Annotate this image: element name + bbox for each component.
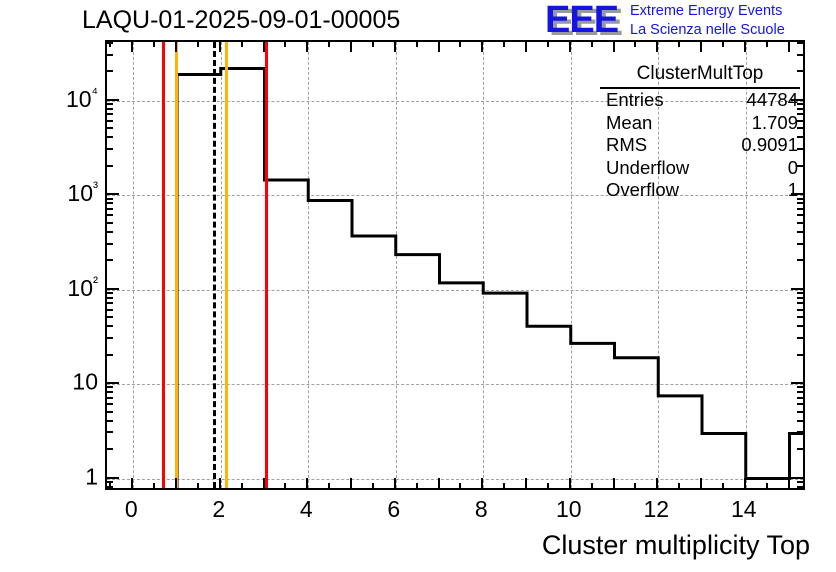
axis-tick [613,40,615,52]
axis-tick [459,483,461,490]
x-axis-title: Cluster multiplicity Top [542,530,810,561]
stats-row-label: Entries [606,90,664,111]
axis-tick [797,42,805,44]
x-axis-tick-label: 2 [212,496,225,523]
axis-tick [105,477,119,479]
marker-line-lower-orange-cut [175,42,178,488]
axis-tick [284,483,286,490]
y-axis-tick-label: 10² [30,274,98,302]
stats-row: Overflow1 [600,179,800,202]
axis-tick [105,127,113,129]
axis-tick [678,40,680,47]
axis-tick [766,40,768,47]
axis-tick [105,397,113,399]
axis-tick [328,40,330,47]
axis-tick [656,40,658,52]
axis-tick [797,386,805,388]
axis-tick [105,292,113,294]
axis-tick [153,40,155,47]
axis-tick [105,136,113,138]
y-axis-tick-label: 1 [30,463,98,490]
x-axis-tick-label: 6 [387,496,400,523]
stats-row-value: 0.9091 [741,135,798,156]
axis-tick [797,448,805,450]
axis-tick [105,103,113,105]
axis-tick [797,354,805,356]
axis-tick [350,478,352,490]
x-axis-tick-label: 10 [556,496,582,523]
axis-tick [105,325,113,327]
eee-logo: EEE EEE Extreme Energy Events La Scienza… [540,1,836,41]
axis-tick [722,483,724,490]
axis-tick [105,391,113,393]
axis-tick [797,202,805,204]
axis-tick [656,478,658,490]
axis-tick [105,113,113,115]
eee-logo-text: Extreme Energy Events La Scienza nelle S… [630,2,785,40]
axis-tick [105,222,113,224]
axis-tick [175,478,177,490]
axis-tick [105,54,113,56]
axis-tick [700,40,702,52]
axis-tick [791,288,805,290]
axis-tick [372,40,374,47]
eee-logo-line2: La Scienza nelle Scuole [630,21,785,40]
axis-tick [105,431,113,433]
axis-tick [105,120,113,122]
marker-line-lower-red-cut [162,42,165,488]
axis-tick [797,391,805,393]
axis-tick [797,208,805,210]
axis-tick [105,337,113,339]
axis-tick [569,478,571,490]
stats-row-label: Underflow [606,158,689,179]
stats-row-value: 44784 [747,90,798,111]
axis-tick [105,420,113,422]
stats-box: ClusterMultTop Entries44784Mean1.709RMS0… [600,62,800,202]
stats-row-value: 1.709 [752,113,798,134]
stats-row-value: 1 [788,180,798,201]
x-axis-tick-label: 8 [475,496,488,523]
axis-tick [797,292,805,294]
axis-tick [678,483,680,490]
axis-tick [503,483,505,490]
axis-tick [394,478,396,490]
axis-tick [613,478,615,490]
axis-tick [634,40,636,47]
axis-tick [105,288,119,290]
axis-tick [105,202,113,204]
axis-tick [438,478,440,490]
axis-tick [797,325,805,327]
axis-tick [481,40,483,52]
axis-tick [105,448,113,450]
axis-tick [131,478,133,490]
stats-box-title: ClusterMultTop [600,62,800,89]
axis-tick [219,478,221,490]
axis-tick [105,231,113,233]
axis-tick [791,382,805,384]
axis-tick [797,397,805,399]
axis-tick [105,302,113,304]
root-canvas: LAQU-01-2025-09-01-00005 EEE EEE Extreme… [0,0,836,572]
axis-tick [153,483,155,490]
axis-tick [105,148,113,150]
axis-tick [797,309,805,311]
axis-tick [241,40,243,47]
axis-tick [131,40,133,52]
axis-tick [350,40,352,52]
axis-tick [105,403,113,405]
axis-tick [525,40,527,52]
axis-tick [105,386,113,388]
stats-row: Underflow0 [600,157,800,180]
axis-tick [797,403,805,405]
axis-tick [797,259,805,261]
x-axis-tick-label: 0 [125,496,138,523]
axis-tick [722,40,724,47]
axis-tick [197,40,199,47]
axis-tick [797,486,805,488]
axis-tick [197,483,199,490]
axis-tick [263,40,265,52]
stats-row: RMS0.9091 [600,134,800,157]
axis-tick [105,208,113,210]
axis-tick [263,478,265,490]
axis-tick [797,420,805,422]
stats-row-label: Overflow [606,180,679,201]
axis-tick [797,222,805,224]
axis-tick [105,309,113,311]
axis-tick [105,108,113,110]
axis-tick [797,243,805,245]
axis-tick [569,40,571,52]
stats-rows: Entries44784Mean1.709RMS0.9091Underflow0… [600,89,800,202]
axis-tick [547,483,549,490]
stats-row-label: Mean [606,113,652,134]
axis-tick [788,478,790,490]
axis-tick [788,40,790,52]
axis-tick [105,243,113,245]
axis-tick [797,214,805,216]
axis-tick [416,483,418,490]
axis-tick [105,198,113,200]
marker-line-upper-red-cut [265,42,268,488]
axis-tick [591,40,593,47]
axis-tick [219,40,221,52]
axis-tick [503,40,505,47]
axis-tick [797,337,805,339]
axis-tick [797,481,805,483]
y-axis-tick-label: 10⁴ [30,85,98,113]
marker-line-mean-line [213,42,216,488]
axis-tick [105,382,119,384]
axis-tick [797,431,805,433]
axis-tick [634,483,636,490]
axis-tick [105,214,113,216]
stats-row: Entries44784 [600,89,800,112]
axis-tick [394,40,396,52]
eee-logo-line1: Extreme Energy Events [630,2,785,21]
axis-tick [105,99,119,101]
axis-tick [105,354,113,356]
axis-tick [105,259,113,261]
axis-tick [105,481,113,483]
axis-tick [105,70,113,72]
axis-tick [105,297,113,299]
axis-tick [481,478,483,490]
axis-tick [306,478,308,490]
axis-tick [105,411,113,413]
axis-tick [797,297,805,299]
y-axis-tick-label: 10³ [30,179,98,207]
axis-tick [438,40,440,52]
axis-tick [797,54,805,56]
axis-tick [241,483,243,490]
x-axis-tick-label: 12 [643,496,669,523]
axis-tick [416,40,418,47]
x-axis-tick-label: 4 [300,496,313,523]
axis-tick [797,231,805,233]
axis-tick [175,40,177,52]
stats-row-value: 0 [788,158,798,179]
axis-tick [105,193,119,195]
axis-tick [105,316,113,318]
page-title: LAQU-01-2025-09-01-00005 [82,6,400,35]
axis-tick [591,483,593,490]
axis-tick [797,411,805,413]
axis-tick [284,40,286,47]
axis-tick [328,483,330,490]
axis-tick [791,477,805,479]
x-axis-tick-label: 14 [731,496,757,523]
stats-row: Mean1.709 [600,112,800,135]
axis-tick [105,486,113,488]
axis-tick [700,478,702,490]
axis-tick [459,40,461,47]
axis-tick [766,483,768,490]
axis-tick [372,483,374,490]
y-axis-tick-label: 10 [30,369,98,396]
axis-tick [797,302,805,304]
axis-tick [306,40,308,52]
axis-tick [105,42,113,44]
axis-tick [547,40,549,47]
axis-tick [797,316,805,318]
stats-row-label: RMS [606,135,647,156]
axis-tick [744,40,746,52]
marker-line-upper-orange-cut [225,42,228,488]
axis-tick [105,165,113,167]
axis-tick [525,478,527,490]
eee-logo-letters: EEE [545,1,618,39]
axis-tick [744,478,746,490]
